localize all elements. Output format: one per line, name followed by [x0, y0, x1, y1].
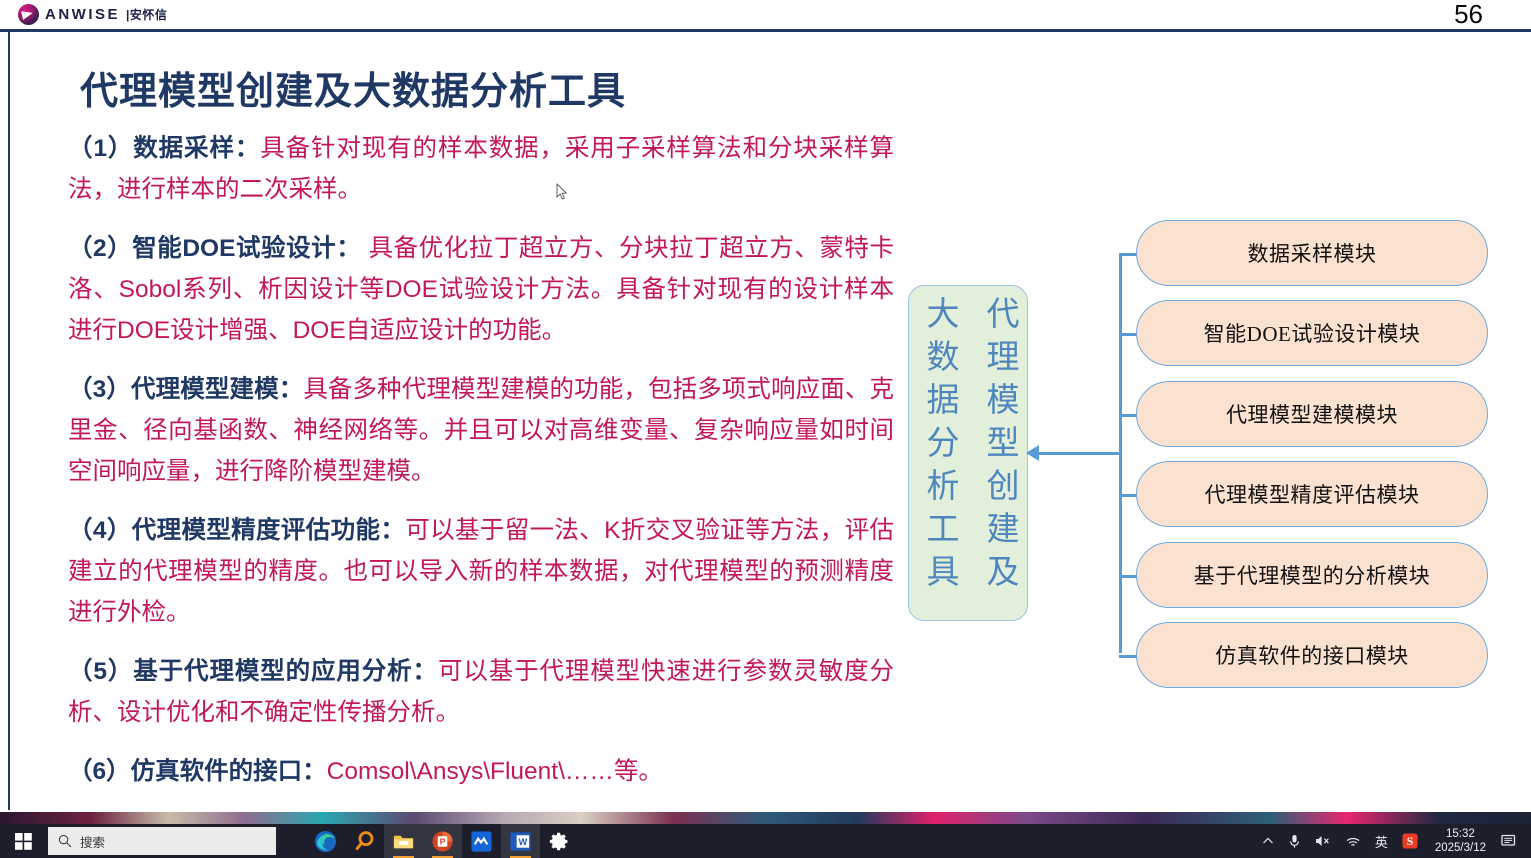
edge-icon [314, 830, 337, 853]
notification-icon[interactable] [1494, 824, 1525, 858]
clock-time: 15:32 [1446, 827, 1475, 841]
module-box: 数据采样模块 [1136, 220, 1488, 286]
body-paragraph: （3）代理模型建模：具备多种代理模型建模的功能，包括多项式响应面、克里金、径向基… [68, 369, 894, 492]
slide-header [0, 0, 1531, 30]
header-divider-rule [0, 29, 1531, 32]
powerpoint-icon: P [431, 830, 454, 853]
module-box: 基于代理模型的分析模块 [1136, 542, 1488, 608]
module-box: 代理模型建模模块 [1136, 381, 1488, 447]
taskbar-item-edge[interactable] [306, 824, 345, 858]
paragraph-separator: ： [336, 235, 361, 262]
module-label: 仿真软件的接口模块 [1215, 640, 1409, 670]
paragraph-separator: ： [302, 758, 327, 785]
file-explorer-icon [392, 830, 415, 853]
connector-stub [1119, 414, 1137, 417]
taskbar-item-app-blue[interactable] [462, 824, 501, 858]
svg-text:P: P [440, 836, 446, 846]
taskbar-app-list: P W [306, 824, 579, 858]
taskbar-item-settings[interactable] [540, 824, 579, 858]
module-box: 仿真软件的接口模块 [1136, 622, 1488, 688]
anwise-logo-icon [18, 4, 39, 25]
speaker-muted-icon[interactable] [1308, 824, 1338, 858]
app-blue-icon [470, 830, 493, 853]
svg-text:W: W [519, 837, 528, 847]
settings-gear-icon [549, 831, 570, 852]
taskbar-item-search[interactable] [345, 824, 384, 858]
architecture-diagram: 代理模型创建及大数据分析工具 数据采样模块 智能DOE试验设计模块 代理模型建模… [900, 200, 1520, 700]
module-box: 代理模型精度评估模块 [1136, 461, 1488, 527]
sogou-input-icon[interactable]: S [1395, 824, 1425, 858]
windows-start-icon [15, 833, 32, 850]
logo-cn-text: 安怀信 [130, 8, 168, 22]
paragraph-separator: ： [235, 135, 260, 162]
paragraph-lead: （6）仿真软件的接口 [68, 758, 302, 785]
connector-arrow-line [1035, 452, 1121, 455]
anwise-logo: ANWISE |安怀信 [18, 4, 167, 25]
diagram-hub-label: 代理模型创建及大数据分析工具 [909, 286, 1029, 622]
clock-date: 2025/3/12 [1435, 841, 1486, 855]
paragraph-separator: ： [413, 658, 438, 685]
body-paragraph: （1）数据采样：具备针对现有的样本数据，采用子采样算法和分块采样算法，进行样本的… [68, 128, 894, 210]
ime-language-glyph: 英 [1375, 832, 1388, 851]
paragraph-lead: （2）智能DOE试验设计 [68, 235, 336, 262]
connector-stub [1119, 333, 1137, 336]
body-paragraph: （6）仿真软件的接口：Comsol\Ansys\Fluent\……等。 [68, 751, 894, 792]
paragraph-lead: （5）基于代理模型的应用分析 [68, 658, 413, 685]
paragraph-body: Comsol\Ansys\Fluent\……等。 [327, 758, 663, 785]
module-label: 智能DOE试验设计模块 [1204, 318, 1421, 348]
wifi-icon[interactable] [1338, 824, 1368, 858]
ime-language-icon[interactable]: 英 [1368, 824, 1395, 858]
paragraph-separator: ： [380, 517, 405, 544]
paragraph-lead: （1）数据采样 [68, 135, 235, 162]
taskbar-item-word[interactable]: W [501, 824, 540, 858]
slide-body: （1）数据采样：具备针对现有的样本数据，采用子采样算法和分块采样算法，进行样本的… [68, 128, 894, 810]
module-label: 代理模型精度评估模块 [1205, 479, 1420, 509]
module-label: 基于代理模型的分析模块 [1194, 560, 1431, 590]
search-magnifier-icon [353, 830, 376, 853]
paragraph-lead: （4）代理模型精度评估功能 [68, 517, 380, 544]
mouse-cursor-icon [556, 183, 568, 201]
module-label: 代理模型建模模块 [1226, 399, 1398, 429]
connector-stub [1119, 575, 1137, 578]
module-label: 数据采样模块 [1248, 238, 1377, 268]
search-input-value: 搜索 [80, 832, 105, 851]
connector-stub [1119, 253, 1137, 256]
taskbar-item-powerpoint[interactable]: P [423, 824, 462, 858]
chevron-up-icon[interactable] [1255, 824, 1281, 858]
search-icon [58, 834, 72, 848]
body-paragraph: （4）代理模型精度评估功能：可以基于留一法、K折交叉验证等方法，评估建立的代理模… [68, 510, 894, 633]
page-number: 56 [1454, 0, 1483, 29]
paragraph-lead: （3）代理模型建模 [68, 376, 279, 403]
paragraph-separator: ： [279, 376, 304, 403]
taskbar-clock[interactable]: 15:32 2025/3/12 [1425, 824, 1494, 858]
svg-text:S: S [1406, 834, 1413, 848]
presentation-slide: ANWISE |安怀信 56 代理模型创建及大数据分析工具 （1）数据采样：具备… [0, 0, 1531, 812]
taskbar-item-file-explorer[interactable] [384, 824, 423, 858]
module-box: 智能DOE试验设计模块 [1136, 300, 1488, 366]
logo-wordmark: ANWISE [45, 6, 120, 23]
system-tray: 英 S 15:32 2025/3/12 [1255, 824, 1531, 858]
left-border-rule [8, 32, 10, 810]
connector-stub [1119, 494, 1137, 497]
windows-taskbar: 搜索 [0, 824, 1531, 858]
page-title: 代理模型创建及大数据分析工具 [80, 60, 626, 115]
body-paragraph: （5）基于代理模型的应用分析：可以基于代理模型快速进行参数灵敏度分析、设计优化和… [68, 651, 894, 733]
body-paragraph: （2）智能DOE试验设计： 具备优化拉丁超立方、分块拉丁超立方、蒙特卡洛、Sob… [68, 228, 894, 351]
diagram-hub-box: 代理模型创建及大数据分析工具 [908, 285, 1028, 621]
connector-stub [1119, 655, 1137, 658]
logo-wordmark-cn: |安怀信 [126, 6, 167, 23]
word-icon: W [509, 830, 532, 853]
search-input[interactable]: 搜索 [48, 827, 276, 855]
start-button[interactable] [0, 824, 46, 858]
connector-arrow-head [1026, 445, 1039, 461]
microphone-icon[interactable] [1281, 824, 1308, 858]
